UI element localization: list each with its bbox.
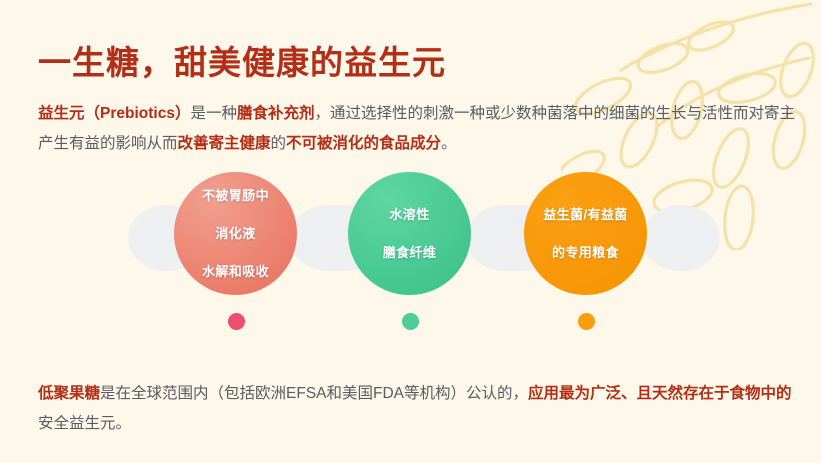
- ghost-pill-6: [642, 205, 720, 271]
- feature-circle-1-label: 不被胃肠中消化液水解和吸收: [202, 186, 269, 281]
- page-title: 一生糖，甜美健康的益生元: [38, 42, 446, 84]
- feature-circle-2[interactable]: 水溶性膳食纤维: [348, 172, 471, 295]
- feature-circle-2-label: 水溶性膳食纤维: [383, 205, 437, 262]
- feature-circle-3[interactable]: 益生菌/有益菌的专用粮食: [524, 172, 647, 295]
- slide-canvas: 一生糖，甜美健康的益生元 益生元（Prebiotics）是一种膳食补充剂，通过选…: [0, 0, 821, 463]
- intro-paragraph: 益生元（Prebiotics）是一种膳食补充剂，通过选择性的刺激一种或少数种菌落…: [38, 99, 798, 159]
- feature-circle-3-label: 益生菌/有益菌的专用粮食: [543, 205, 627, 262]
- step-dot-2: [402, 313, 419, 330]
- feature-circle-1[interactable]: 不被胃肠中消化液水解和吸收: [174, 172, 297, 295]
- step-dot-1: [228, 313, 245, 330]
- step-dot-3: [578, 313, 595, 330]
- footer-paragraph: 低聚果糖是在全球范围内（包括欧洲EFSA和美国FDA等机构）公认的，应用最为广泛…: [38, 379, 798, 439]
